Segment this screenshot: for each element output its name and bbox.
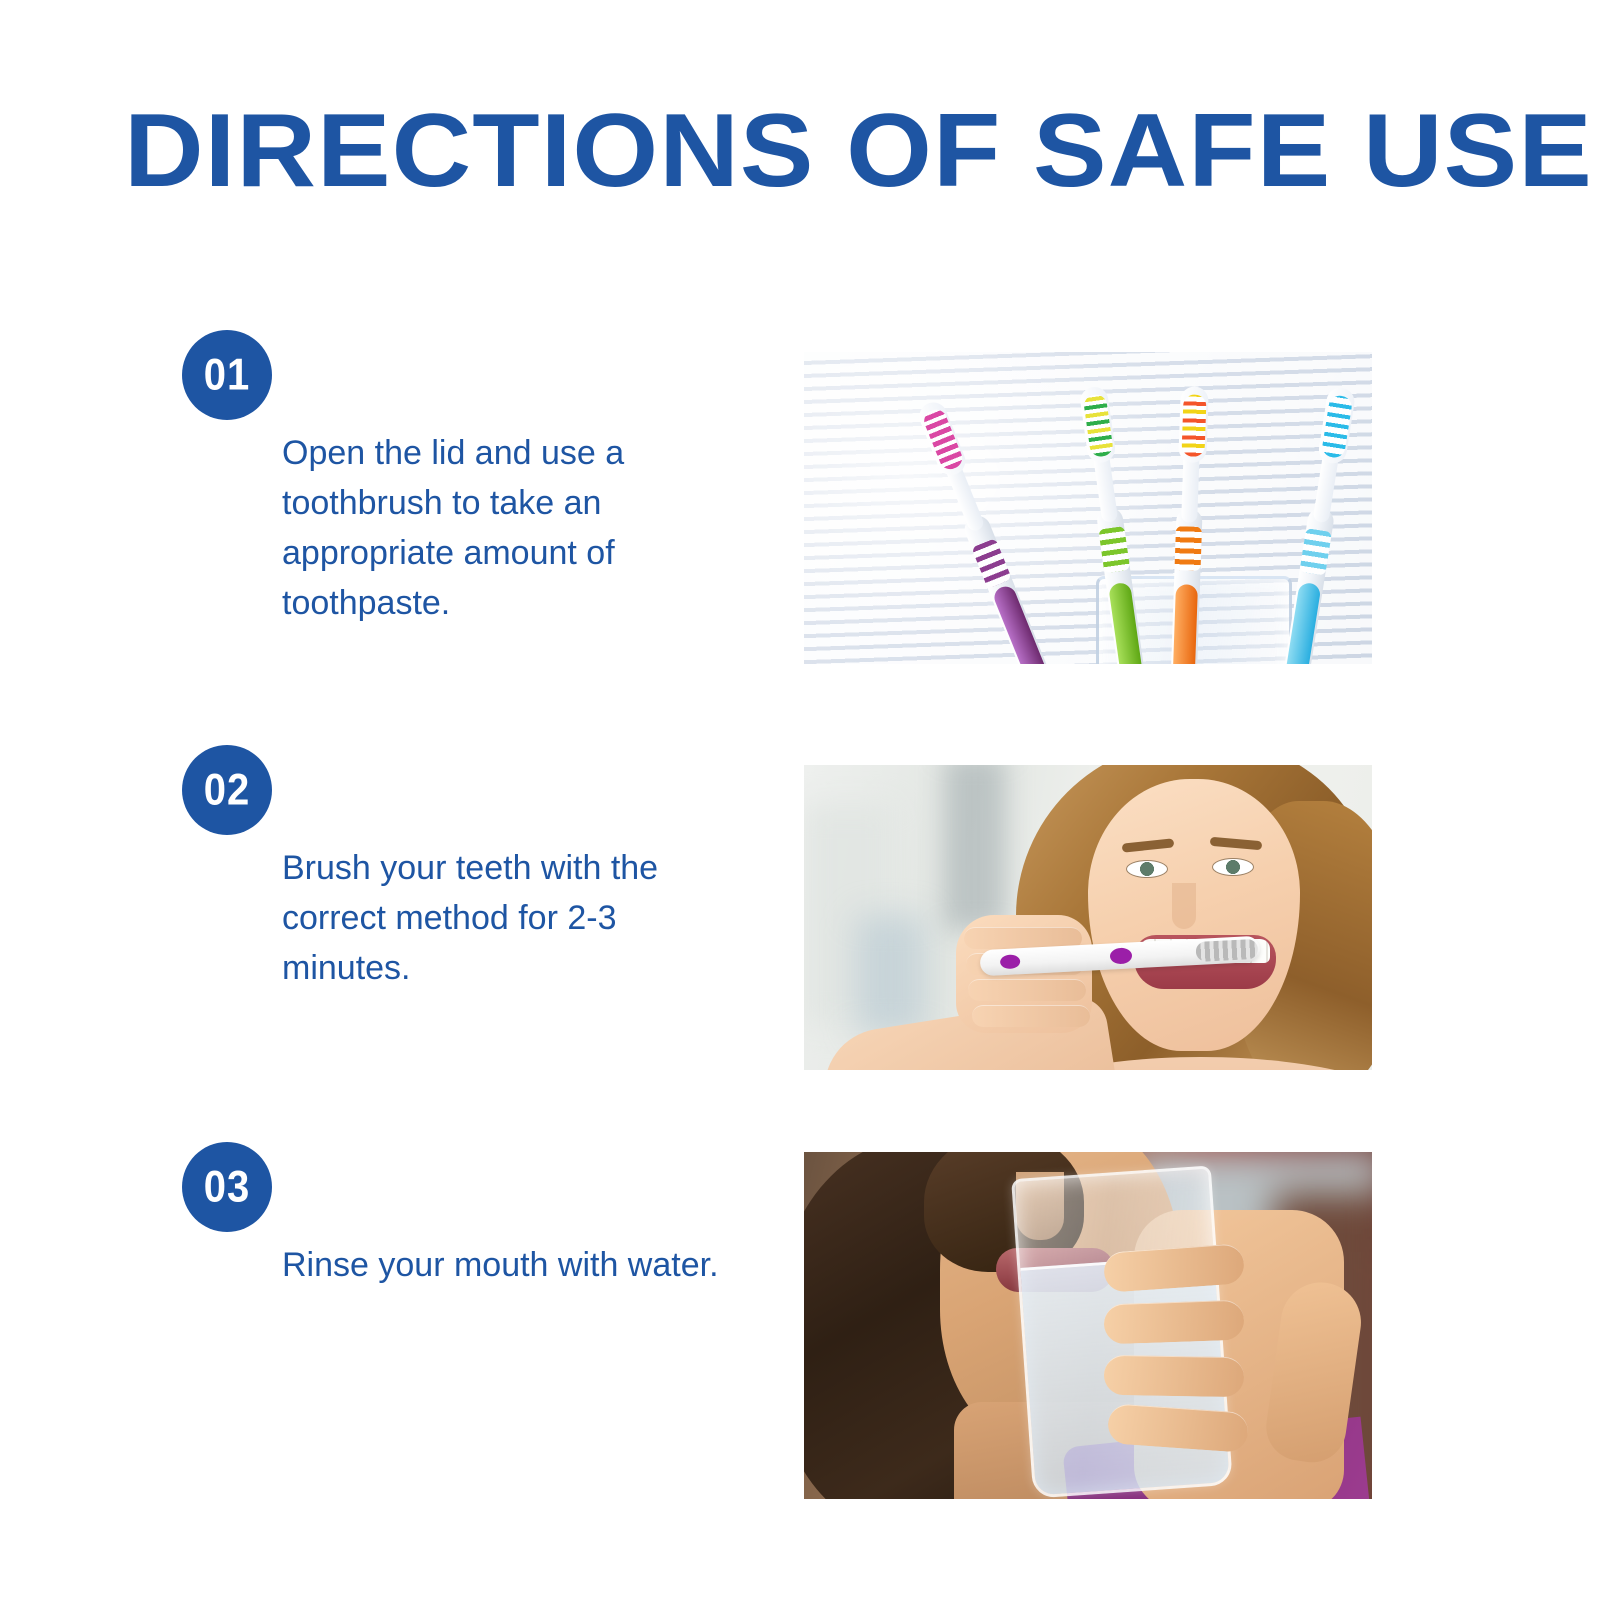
step-number-badge-01: 01 (182, 330, 272, 420)
step-image-02 (804, 765, 1372, 1070)
step-description-02: Brush your teeth with the correct method… (282, 843, 722, 993)
eye-right (1212, 858, 1254, 876)
step-image-03 (804, 1152, 1372, 1499)
step-description-01: Open the lid and use a toothbrush to tak… (282, 428, 722, 628)
step-image-01 (804, 352, 1372, 664)
nose (1172, 883, 1196, 929)
step-number-label: 01 (204, 353, 251, 398)
step-number-label: 03 (204, 1165, 251, 1210)
eye-left (1126, 860, 1168, 878)
page-title: DIRECTIONS OF SAFE USE (124, 96, 1566, 206)
step-number-badge-03: 03 (182, 1142, 272, 1232)
step-number-badge-02: 02 (182, 745, 272, 835)
step-description-03: Rinse your mouth with water. (282, 1240, 722, 1290)
step-number-label: 02 (204, 768, 251, 813)
infographic-page: DIRECTIONS OF SAFE USE 01 Open the lid a… (0, 0, 1600, 1600)
